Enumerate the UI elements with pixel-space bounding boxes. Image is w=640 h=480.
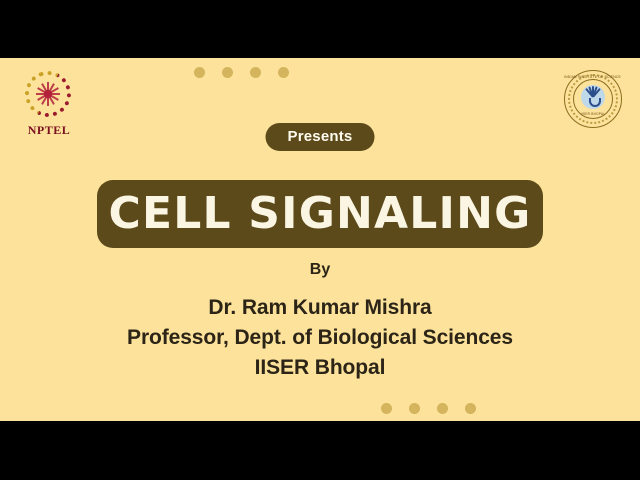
presenter-affiliation: Professor, Dept. of Biological Sciences bbox=[0, 323, 640, 353]
seal-arc-text: INDIAN INSTITUTE OF SCIENCE EDUCATION AN… bbox=[564, 75, 622, 79]
nptel-emblem-icon bbox=[22, 70, 76, 122]
decor-dot bbox=[250, 67, 261, 78]
title-slide: NPTEL INDIAN INSTITUTE OF SCIENCE EDUCAT… bbox=[0, 58, 640, 421]
seal-lotus-icon bbox=[581, 85, 605, 109]
decorative-dots-top bbox=[194, 67, 289, 78]
decor-dot bbox=[409, 403, 420, 414]
seal-caption-text: IISER BHOPAL bbox=[564, 112, 622, 116]
presents-badge: Presents bbox=[266, 123, 375, 151]
iiser-bhopal-seal-logo: INDIAN INSTITUTE OF SCIENCE EDUCATION AN… bbox=[564, 70, 622, 128]
nptel-wordmark: NPTEL bbox=[18, 123, 80, 138]
by-label: By bbox=[0, 260, 640, 279]
presenter-block: By Dr. Ram Kumar Mishra Professor, Dept.… bbox=[0, 260, 640, 383]
decor-dot bbox=[222, 67, 233, 78]
decor-dot bbox=[194, 67, 205, 78]
presenter-lines: Dr. Ram Kumar Mishra Professor, Dept. of… bbox=[0, 293, 640, 382]
video-frame: NPTEL INDIAN INSTITUTE OF SCIENCE EDUCAT… bbox=[0, 0, 640, 480]
decorative-dots-bottom bbox=[381, 403, 476, 414]
letterbox-bar-bottom bbox=[0, 421, 640, 480]
presenter-institute: IISER Bhopal bbox=[0, 353, 640, 383]
decor-dot bbox=[465, 403, 476, 414]
course-title-plaque: CELL SIGNALING bbox=[97, 180, 543, 248]
nptel-star-icon bbox=[36, 82, 60, 106]
page-title: CELL SIGNALING bbox=[109, 192, 532, 236]
nptel-logo: NPTEL bbox=[18, 70, 80, 144]
decor-dot bbox=[437, 403, 448, 414]
decor-dot bbox=[278, 67, 289, 78]
presenter-name: Dr. Ram Kumar Mishra bbox=[0, 293, 640, 323]
decor-dot bbox=[381, 403, 392, 414]
letterbox-bar-top bbox=[0, 0, 640, 58]
